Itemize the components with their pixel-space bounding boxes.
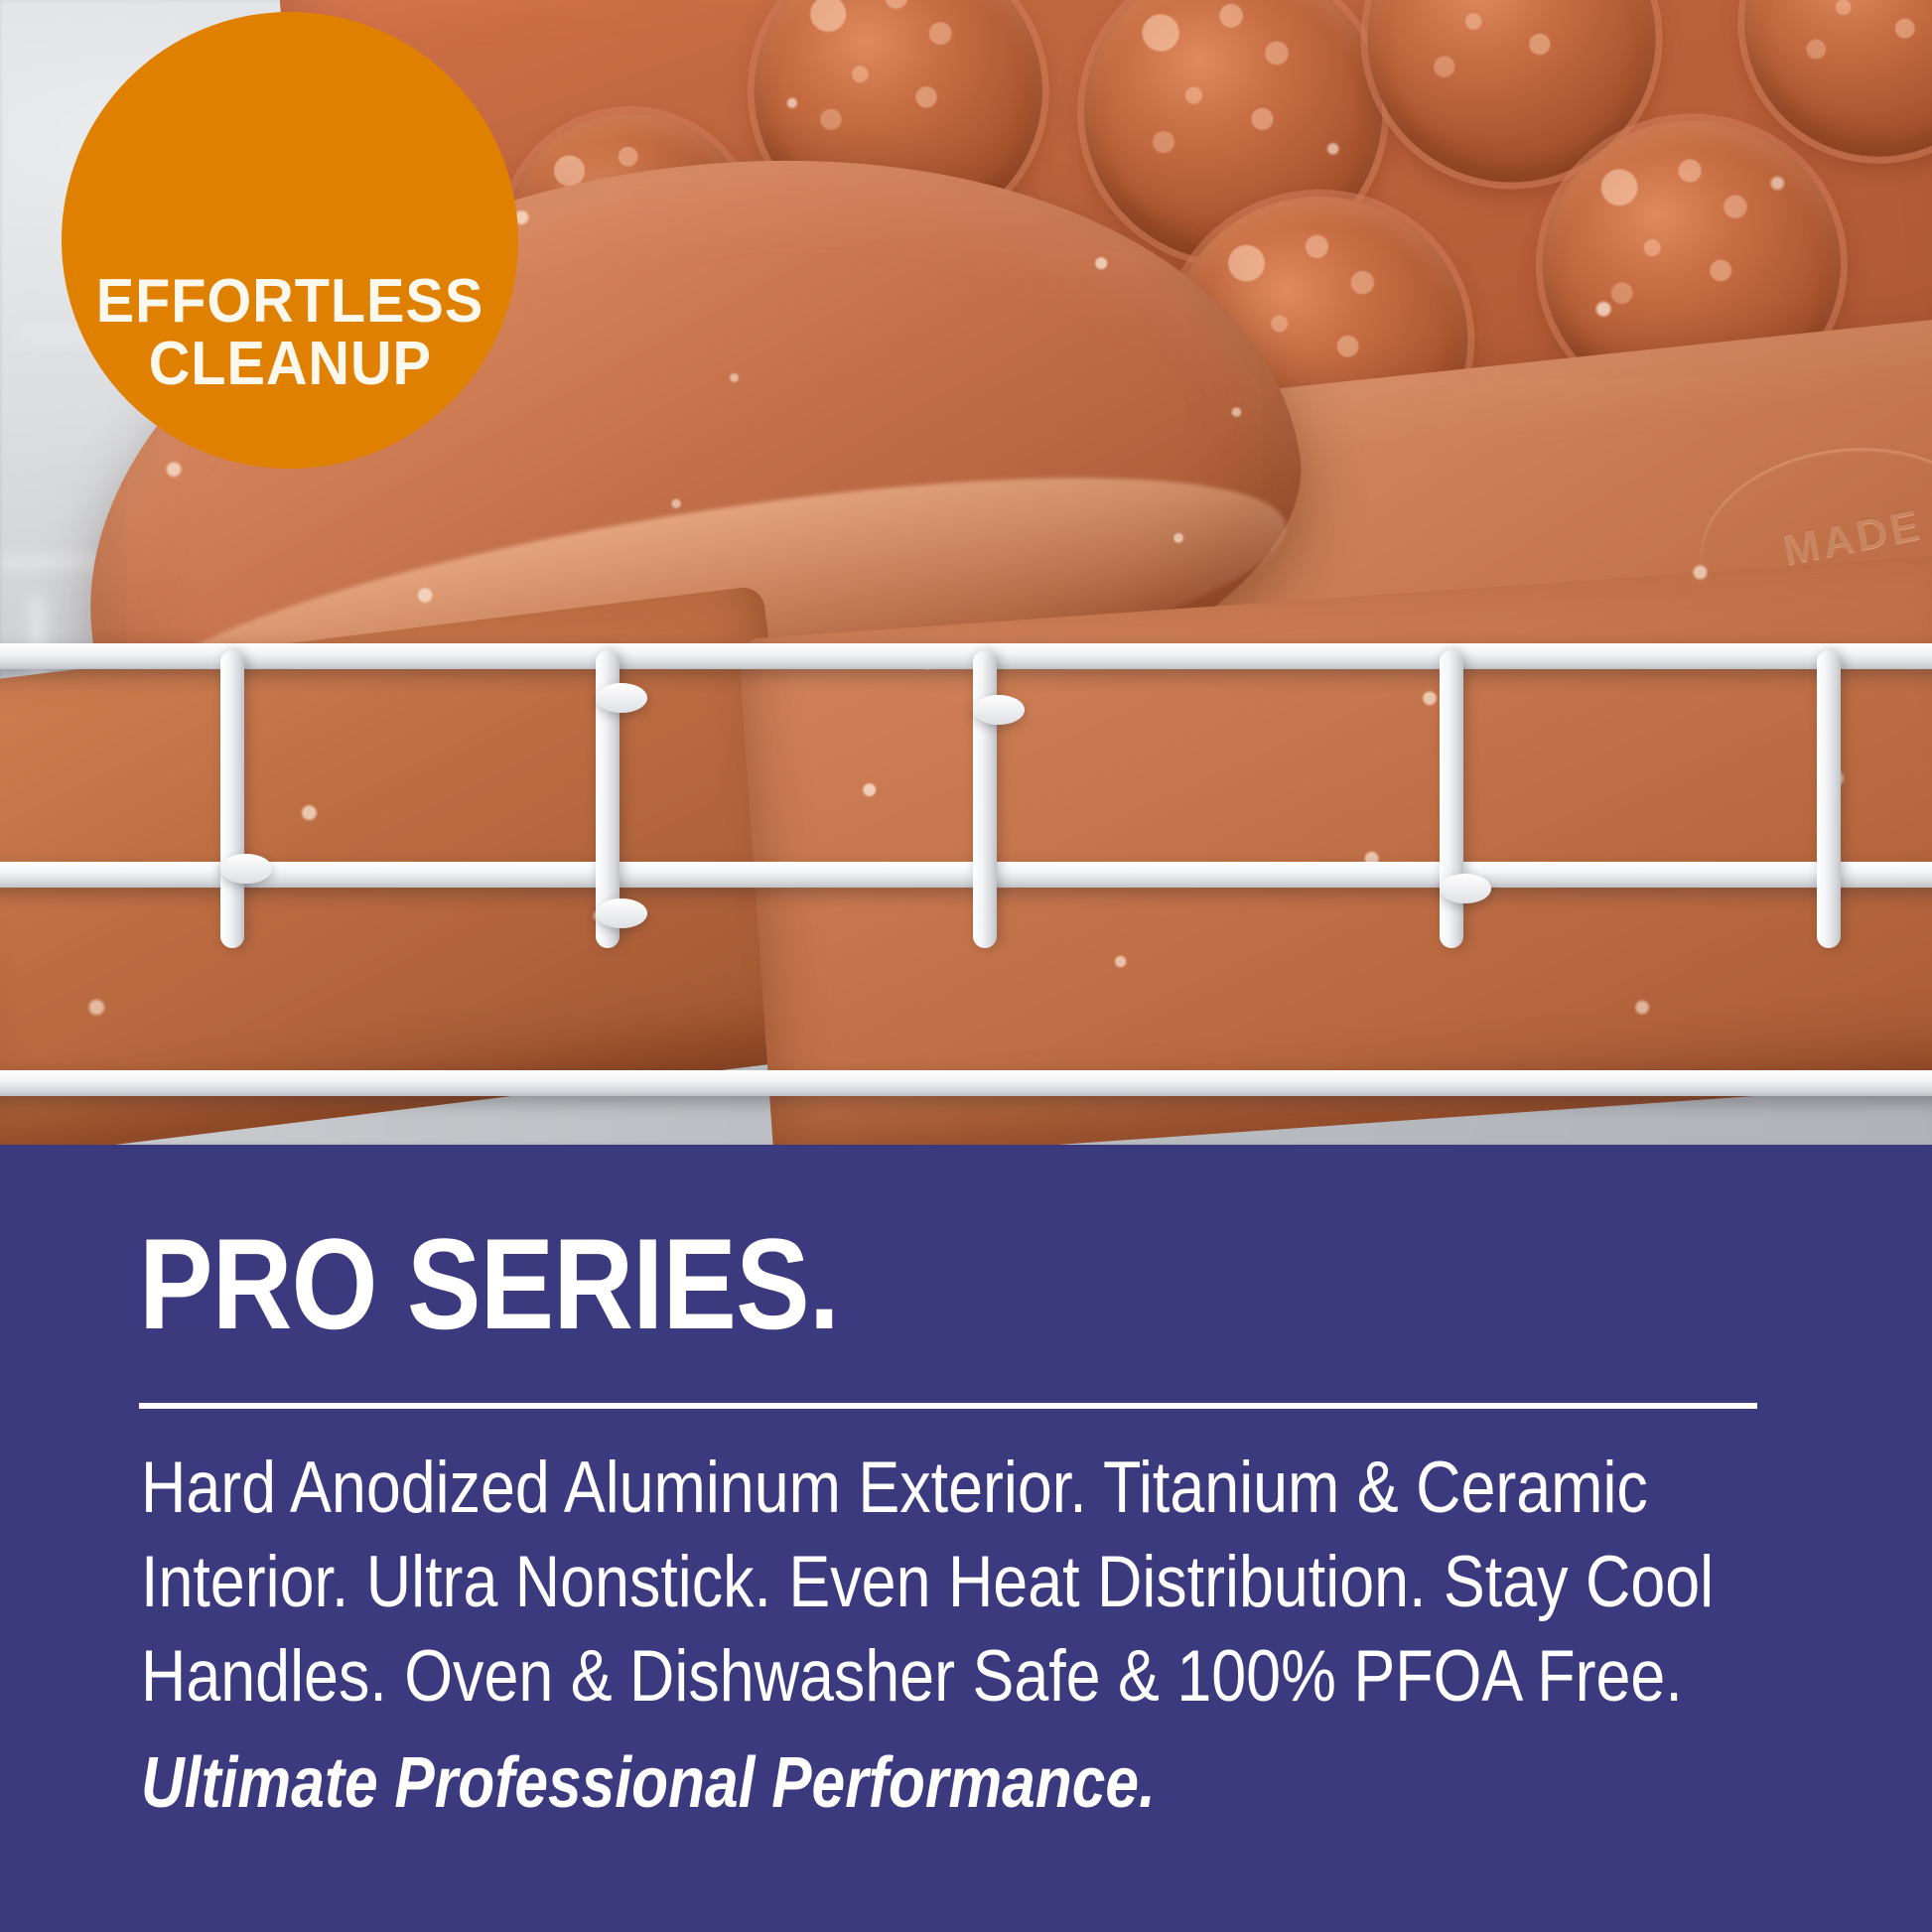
effortless-cleanup-badge: EFFORTLESS CLEANUP — [62, 12, 518, 469]
page-title: PRO SERIES. — [139, 1219, 839, 1348]
product-marketing-image: MADE EFFORTLESS CLEANUP — [0, 0, 1932, 1932]
feature-line: Hard Anodized Aluminum Exterior. Titaniu… — [141, 1442, 1592, 1536]
badge-line-2: CLEANUP — [148, 333, 431, 395]
tagline: Ultimate Professional Performance. — [141, 1747, 1156, 1819]
badge-line-1: EFFORTLESS — [96, 270, 484, 333]
feature-line: Interior. Ultra Nonstick. Even Heat Dist… — [141, 1536, 1592, 1630]
copper-lower-pan-left — [0, 585, 820, 1145]
feature-line: Handles. Oven & Dishwasher Safe & 100% P… — [141, 1630, 1592, 1725]
divider-rule — [139, 1403, 1757, 1409]
copper-lower-pan-right — [738, 553, 1932, 1145]
feature-description: Hard Anodized Aluminum Exterior. Titaniu… — [141, 1442, 1592, 1725]
